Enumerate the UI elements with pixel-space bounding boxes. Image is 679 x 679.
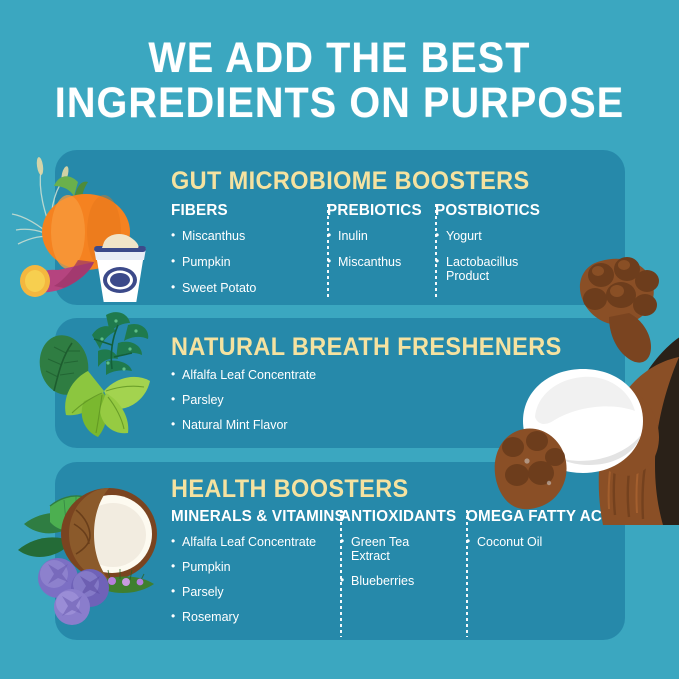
ingredient-list: Miscanthus Pumpkin Sweet Potato: [171, 229, 317, 295]
column-fibers: FIBERS Miscanthus Pumpkin Sweet Potato: [171, 202, 327, 307]
ingredient-list: Green Tea Extract Blueberries: [340, 535, 456, 588]
column-divider: [327, 204, 329, 298]
list-item: Parsely: [171, 585, 321, 599]
ingredient-list: Yogurt Lactobacillus Product: [435, 229, 575, 283]
headline-line-2: INGREDIENTS ON PURPOSE: [27, 81, 652, 126]
column-prebiotics: PREBIOTICS Inulin Miscanthus: [327, 202, 435, 307]
list-item: Lactobacillus Product: [435, 255, 535, 283]
column-antioxidants: ANTIOXIDANTS Green Tea Extract Blueberri…: [340, 508, 466, 636]
column-breath-items: Alfalfa Leaf Concentrate Parsley Natural…: [171, 368, 591, 444]
column-omega-fatty-acids: OMEGA FATTY ACIDS Coconut Oil: [466, 508, 626, 636]
list-item: Rosemary: [171, 610, 321, 624]
list-item: Parsley: [171, 393, 581, 407]
card-columns: MINERALS & VITAMINS Alfalfa Leaf Concent…: [171, 508, 617, 636]
column-divider: [435, 204, 437, 298]
list-item: Green Tea Extract: [340, 535, 418, 563]
column-heading: MINERALS & VITAMINS: [171, 508, 322, 526]
card-title: HEALTH BOOSTERS: [171, 476, 409, 502]
list-item: Pumpkin: [171, 560, 321, 574]
card-title: NATURAL BREATH FRESHENERS: [171, 334, 562, 360]
column-postbiotics: POSTBIOTICS Yogurt Lactobacillus Product: [435, 202, 585, 307]
card-title: GUT MICROBIOME BOOSTERS: [171, 168, 530, 194]
list-item: Alfalfa Leaf Concentrate: [171, 368, 581, 382]
column-divider: [340, 510, 342, 637]
list-item: Sweet Potato: [171, 281, 317, 295]
page-title: WE ADD THE BEST INGREDIENTS ON PURPOSE: [0, 36, 679, 126]
list-item: Alfalfa Leaf Concentrate: [171, 535, 330, 549]
column-heading: FIBERS: [171, 202, 310, 220]
headline-line-1: WE ADD THE BEST: [27, 36, 652, 81]
ingredient-list: Inulin Miscanthus: [327, 229, 425, 269]
card-columns: Alfalfa Leaf Concentrate Parsley Natural…: [171, 368, 617, 444]
card-gut-microbiome-boosters[interactable]: GUT MICROBIOME BOOSTERS FIBERS Miscanthu…: [55, 150, 625, 305]
ingredient-list: Alfalfa Leaf Concentrate Parsley Natural…: [171, 368, 581, 432]
ingredients-infographic: WE ADD THE BEST INGREDIENTS ON PURPOSE: [0, 0, 679, 679]
column-minerals-vitamins: MINERALS & VITAMINS Alfalfa Leaf Concent…: [171, 508, 340, 636]
column-heading: PREBIOTICS: [327, 202, 420, 220]
card-natural-breath-fresheners[interactable]: NATURAL BREATH FRESHENERS Alfalfa Leaf C…: [55, 318, 625, 448]
list-item: Miscanthus: [171, 229, 317, 243]
list-item: Coconut Oil: [466, 535, 616, 549]
ingredient-list: Coconut Oil: [466, 535, 616, 549]
list-item: Blueberries: [340, 574, 456, 588]
column-divider: [466, 510, 468, 637]
list-item: Miscanthus: [327, 255, 425, 269]
list-item: Natural Mint Flavor: [171, 418, 581, 432]
card-health-boosters[interactable]: HEALTH BOOSTERS MINERALS & VITAMINS Alfa…: [55, 462, 625, 640]
column-heading: ANTIOXIDANTS: [340, 508, 450, 526]
ingredient-list: Alfalfa Leaf Concentrate Pumpkin Parsely…: [171, 535, 330, 624]
card-columns: FIBERS Miscanthus Pumpkin Sweet Potato P…: [171, 202, 617, 307]
column-heading: OMEGA FATTY ACIDS: [466, 508, 609, 526]
column-heading: POSTBIOTICS: [435, 202, 568, 220]
list-item: Yogurt: [435, 229, 575, 243]
list-item: Inulin: [327, 229, 425, 243]
list-item: Pumpkin: [171, 255, 317, 269]
